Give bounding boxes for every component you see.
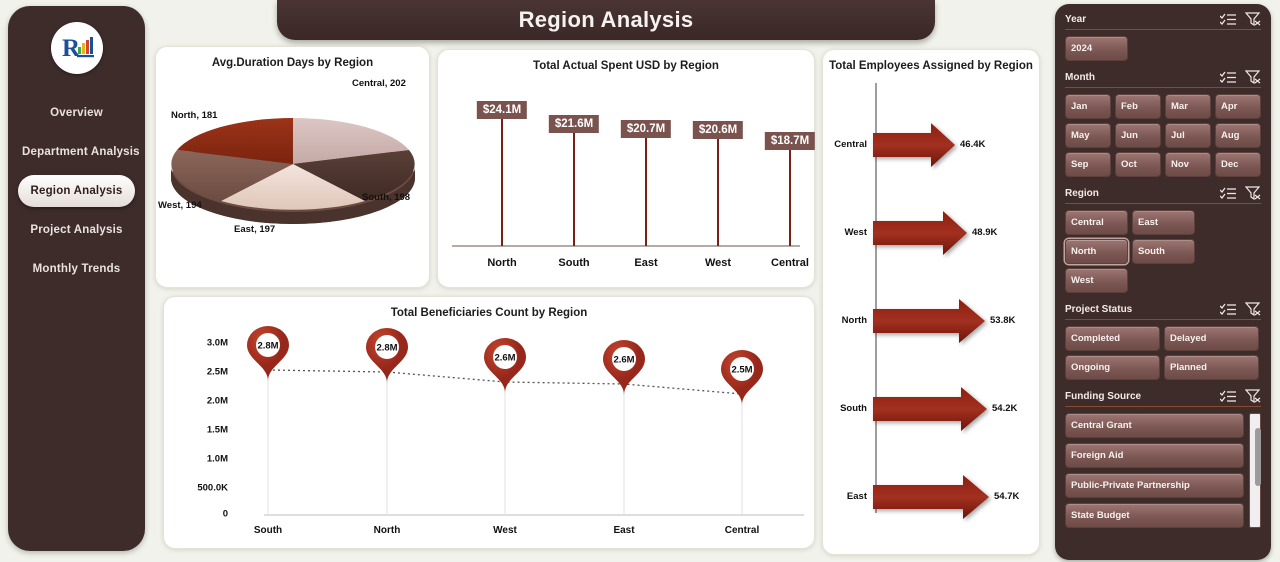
filter-option-jan[interactable]: Jan <box>1065 94 1111 119</box>
filter-option-mar[interactable]: Mar <box>1165 94 1211 119</box>
filter-option-aug[interactable]: Aug <box>1215 123 1261 148</box>
filter-option-2024[interactable]: 2024 <box>1065 36 1128 61</box>
arrow-shape-east <box>873 475 989 519</box>
chart-title-employees: Total Employees Assigned by Region <box>823 50 1039 75</box>
arrow-value-west: 48.9K <box>972 227 997 238</box>
map-pin-icon <box>602 340 646 396</box>
arrow-row-east: East 54.7K <box>823 475 1039 519</box>
arrow-row-west: West 48.9K <box>823 211 1039 255</box>
filter-group-year: Year 2024 <box>1065 12 1261 61</box>
map-pin-icon <box>483 338 527 394</box>
funding-source-scrollbar[interactable] <box>1249 413 1261 528</box>
pie-label-east: East, 197 <box>234 224 275 235</box>
filter-header-region: Region <box>1065 186 1261 204</box>
filter-title-region: Region <box>1065 188 1099 199</box>
pie-chart-svg <box>156 72 431 257</box>
filter-group-project-status: Project Status Completed Delayed Ongoing <box>1065 302 1261 380</box>
chart-card-beneficiaries: Total Beneficiaries Count by Region 0 50… <box>163 296 815 549</box>
map-pin-icon <box>720 350 764 406</box>
chart-card-employees: Total Employees Assigned by Region Centr… <box>822 49 1040 555</box>
clear-filter-icon[interactable] <box>1245 70 1261 84</box>
arrow-row-central: Central 46.4K <box>823 123 1039 167</box>
lollipop-value-west: $20.6M <box>693 121 743 139</box>
filter-option-completed[interactable]: Completed <box>1065 326 1160 351</box>
filter-option-ongoing[interactable]: Ongoing <box>1065 355 1160 380</box>
pin-marker-south: 2.8M <box>246 326 290 387</box>
filter-title-year: Year <box>1065 14 1086 25</box>
filter-options-year: 2024 <box>1065 36 1261 61</box>
chart-card-avg-duration: Avg.Duration Days by Region <box>155 46 430 288</box>
lollipop-value-east: $20.7M <box>621 120 671 138</box>
pie-label-south: South, 198 <box>362 192 410 203</box>
page-title-banner: Region Analysis <box>277 0 935 40</box>
sidebar-nav: Overview Department Analysis Region Anal… <box>8 90 145 292</box>
filter-title-project-status: Project Status <box>1065 304 1132 315</box>
filter-group-month: Month Jan Feb Mar Apr May J <box>1065 70 1261 177</box>
pin-value-west: 2.6M <box>494 352 515 363</box>
sidebar-item-label: Overview <box>50 107 103 119</box>
filter-panel: Year 2024 Month <box>1055 4 1271 560</box>
logo-icon: R <box>54 25 100 71</box>
x-tick-west: West <box>493 525 517 536</box>
filter-option-west[interactable]: West <box>1065 268 1128 293</box>
x-tick-central: Central <box>771 257 809 269</box>
filter-group-region: Region Central East North South W <box>1065 186 1261 293</box>
x-axis-line <box>452 245 800 247</box>
filter-option-state-budget[interactable]: State Budget <box>1065 503 1244 528</box>
sidebar-item-monthly-trends[interactable]: Monthly Trends <box>18 253 135 285</box>
filter-option-nov[interactable]: Nov <box>1165 152 1211 177</box>
company-logo: R <box>51 22 103 74</box>
filter-option-north[interactable]: North <box>1065 239 1128 264</box>
lollipop-value-south: $21.6M <box>549 115 599 133</box>
filter-option-sep[interactable]: Sep <box>1065 152 1111 177</box>
filter-option-east[interactable]: East <box>1132 210 1195 235</box>
filter-header-project-status: Project Status <box>1065 302 1261 320</box>
arrow-label-central: Central <box>823 139 873 150</box>
pin-marker-west: 2.6M <box>483 338 527 399</box>
filter-option-feb[interactable]: Feb <box>1115 94 1161 119</box>
sidebar-item-label: Monthly Trends <box>33 263 121 275</box>
sidebar-item-overview[interactable]: Overview <box>18 97 135 129</box>
pin-marker-north: 2.8M <box>365 328 409 389</box>
filter-option-delayed[interactable]: Delayed <box>1164 326 1259 351</box>
filter-option-central[interactable]: Central <box>1065 210 1128 235</box>
filter-option-jul[interactable]: Jul <box>1165 123 1211 148</box>
x-tick-west: West <box>705 257 731 269</box>
pin-marker-central: 2.5M <box>720 350 764 411</box>
sidebar-item-label: Region Analysis <box>30 185 122 197</box>
pin-value-south: 2.8M <box>257 340 278 351</box>
lollipop-stem <box>789 150 791 246</box>
arrow-label-west: West <box>823 227 873 238</box>
sidebar-item-project-analysis[interactable]: Project Analysis <box>18 214 135 246</box>
filter-option-may[interactable]: May <box>1065 123 1111 148</box>
x-tick-south: South <box>558 257 589 269</box>
clear-filter-icon[interactable] <box>1245 186 1261 200</box>
map-pin-icon <box>246 326 290 382</box>
multi-select-icon[interactable] <box>1220 390 1236 403</box>
arrow-shape-central <box>873 123 955 167</box>
arrow-value-central: 46.4K <box>960 139 985 150</box>
lollipop-value-central: $18.7M <box>765 132 815 150</box>
filter-option-apr[interactable]: Apr <box>1215 94 1261 119</box>
x-tick-east: East <box>613 525 634 536</box>
pin-value-north: 2.8M <box>376 342 397 353</box>
pin-chart-beneficiaries: 0 500.0K 1.0M 1.5M 2.0M 2.5M 3.0M <box>164 322 814 540</box>
lollipop-stem <box>645 138 647 246</box>
filter-option-oct[interactable]: Oct <box>1115 152 1161 177</box>
arrow-row-north: North 53.8K <box>823 299 1039 343</box>
sidebar: R Overview Department Analysis Region An… <box>8 6 145 551</box>
filter-title-funding-source: Funding Source <box>1065 391 1141 402</box>
pin-marker-east: 2.6M <box>602 340 646 401</box>
lollipop-chart-actual-spent: $24.1M $21.6M $20.7M $20.6M $18.7M North… <box>452 75 800 275</box>
arrow-label-north: North <box>823 315 873 326</box>
filter-header-year: Year <box>1065 12 1261 30</box>
chart-card-actual-spent: Total Actual Spent USD by Region $24.1M … <box>437 49 815 288</box>
filter-header-funding-source: Funding Source <box>1065 389 1261 407</box>
clear-filter-icon[interactable] <box>1245 12 1261 26</box>
sidebar-item-department-analysis[interactable]: Department Analysis <box>18 136 135 168</box>
arrow-value-south: 54.2K <box>992 403 1017 414</box>
x-tick-north: North <box>374 525 401 536</box>
lollipop-stem <box>717 139 719 246</box>
filter-group-funding-source: Funding Source Central Grant Foreign Aid <box>1065 389 1261 528</box>
filter-option-public-private-partnership[interactable]: Public-Private Partnership <box>1065 473 1244 498</box>
arrow-row-south: South 54.2K <box>823 387 1039 431</box>
sidebar-item-label: Department Analysis <box>22 146 140 158</box>
sidebar-item-region-analysis[interactable]: Region Analysis <box>18 175 135 207</box>
scrollbar-thumb[interactable] <box>1255 428 1261 486</box>
filter-options-month: Jan Feb Mar Apr May Jun Jul Aug Sep Oct … <box>1065 94 1261 177</box>
arrow-shape-north <box>873 299 985 343</box>
arrow-shape-south <box>873 387 987 431</box>
map-pin-icon <box>365 328 409 384</box>
sidebar-item-label: Project Analysis <box>30 224 122 236</box>
filter-options-region: Central East North South West <box>1065 210 1261 293</box>
arrow-chart-employees: Central 46.4K West 48.9K North 53.8K Sou… <box>823 79 1039 519</box>
pie-label-north: North, 181 <box>171 110 217 121</box>
chart-title-avg-duration: Avg.Duration Days by Region <box>156 47 429 72</box>
filter-option-dec[interactable]: Dec <box>1215 152 1261 177</box>
chart-title-actual-spent: Total Actual Spent USD by Region <box>438 50 814 75</box>
arrow-label-east: East <box>823 491 873 502</box>
pin-value-central: 2.5M <box>731 364 752 375</box>
multi-select-icon[interactable] <box>1220 71 1236 84</box>
arrow-value-north: 53.8K <box>990 315 1015 326</box>
filter-option-central-grant[interactable]: Central Grant <box>1065 413 1244 438</box>
filter-option-planned[interactable]: Planned <box>1164 355 1259 380</box>
clear-filter-icon[interactable] <box>1245 389 1261 403</box>
lollipop-value-north: $24.1M <box>477 101 527 119</box>
filter-options-project-status: Completed Delayed Ongoing Planned <box>1065 326 1261 380</box>
filter-title-month: Month <box>1065 72 1095 83</box>
multi-select-icon[interactable] <box>1220 13 1236 26</box>
page-title: Region Analysis <box>519 7 694 33</box>
arrow-label-south: South <box>823 403 873 414</box>
lollipop-stem <box>573 133 575 246</box>
filter-header-month: Month <box>1065 70 1261 88</box>
x-tick-north: North <box>487 257 516 269</box>
multi-select-icon[interactable] <box>1220 187 1236 200</box>
chart-title-beneficiaries: Total Beneficiaries Count by Region <box>164 297 814 322</box>
pie-label-central: Central, 202 <box>352 78 406 89</box>
multi-select-icon[interactable] <box>1220 303 1236 316</box>
x-tick-east: East <box>634 257 657 269</box>
pin-value-east: 2.6M <box>613 354 634 365</box>
arrow-shape-west <box>873 211 967 255</box>
clear-filter-icon[interactable] <box>1245 302 1261 316</box>
filter-option-foreign-aid[interactable]: Foreign Aid <box>1065 443 1244 468</box>
x-tick-central: Central <box>725 525 759 536</box>
arrow-value-east: 54.7K <box>994 491 1019 502</box>
filter-options-funding-source: Central Grant Foreign Aid Public-Private… <box>1065 413 1261 528</box>
x-tick-south: South <box>254 525 282 536</box>
pie-chart-avg-duration: Central, 202 South, 198 East, 197 West, … <box>156 72 429 262</box>
pie-label-west: West, 194 <box>158 200 202 211</box>
filter-option-jun[interactable]: Jun <box>1115 123 1161 148</box>
filter-option-south[interactable]: South <box>1132 239 1195 264</box>
lollipop-stem <box>501 119 503 246</box>
